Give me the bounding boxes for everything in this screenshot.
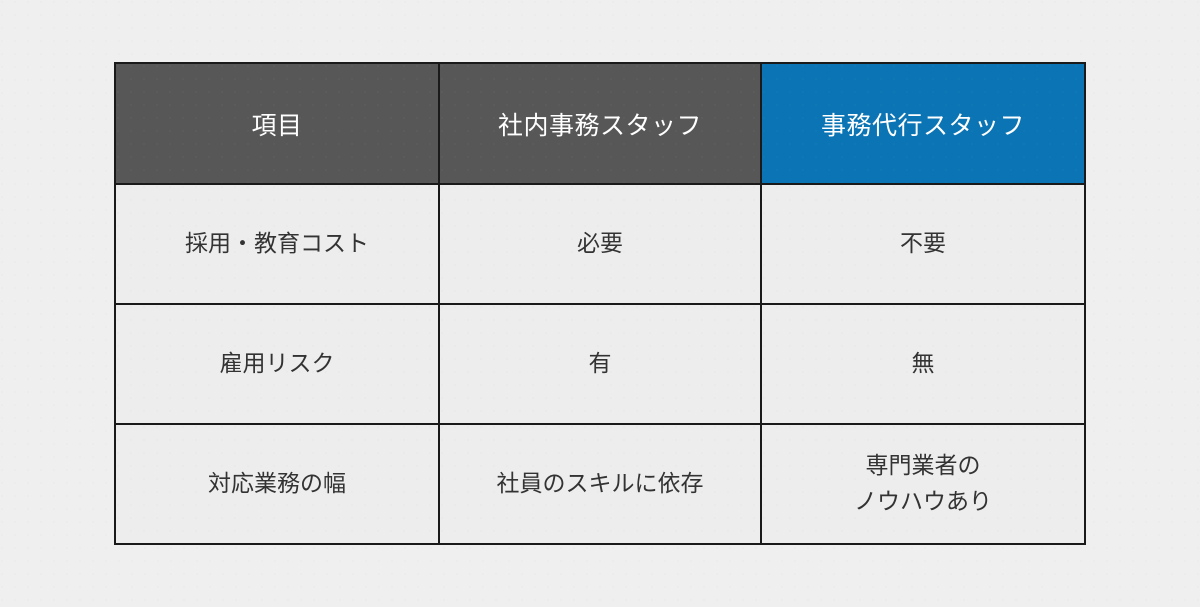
cell-agency-task-scope: 専門業者の ノウハウあり [761, 424, 1085, 544]
cell-internal-employment-risk: 有 [439, 304, 761, 424]
table-row: 雇用リスク 有 無 [115, 304, 1085, 424]
cell-item-employment-risk: 雇用リスク [115, 304, 439, 424]
column-header-agency-staff: 事務代行スタッフ [761, 63, 1085, 184]
cell-internal-task-scope: 社員のスキルに依存 [439, 424, 761, 544]
cell-item-task-scope: 対応業務の幅 [115, 424, 439, 544]
cell-agency-employment-risk: 無 [761, 304, 1085, 424]
cell-internal-hiring-training-cost: 必要 [439, 184, 761, 304]
page-background: 項目 社内事務スタッフ 事務代行スタッフ 採用・教育コスト 必要 不要 雇用リス… [0, 0, 1200, 607]
table-header: 項目 社内事務スタッフ 事務代行スタッフ [115, 63, 1085, 184]
cell-item-hiring-training-cost: 採用・教育コスト [115, 184, 439, 304]
column-header-internal-staff: 社内事務スタッフ [439, 63, 761, 184]
table-row: 対応業務の幅 社員のスキルに依存 専門業者の ノウハウあり [115, 424, 1085, 544]
table-row: 採用・教育コスト 必要 不要 [115, 184, 1085, 304]
column-header-item: 項目 [115, 63, 439, 184]
comparison-table: 項目 社内事務スタッフ 事務代行スタッフ 採用・教育コスト 必要 不要 雇用リス… [114, 62, 1086, 545]
table-body: 採用・教育コスト 必要 不要 雇用リスク 有 無 対応業務の幅 社員のスキルに依… [115, 184, 1085, 544]
cell-agency-hiring-training-cost: 不要 [761, 184, 1085, 304]
header-row: 項目 社内事務スタッフ 事務代行スタッフ [115, 63, 1085, 184]
